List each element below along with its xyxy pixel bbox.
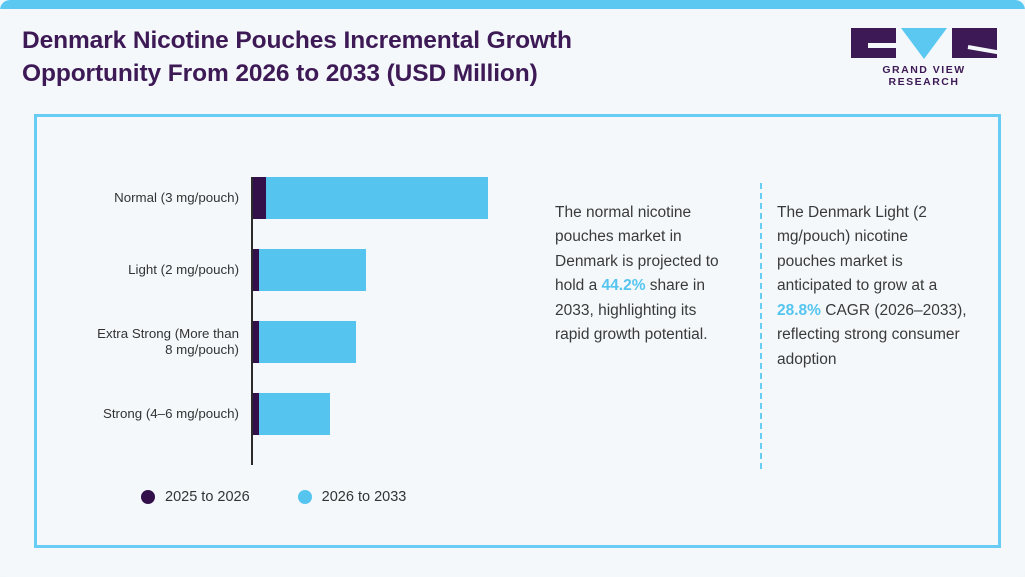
chart-legend: 2025 to 2026 2026 to 2033 (141, 489, 406, 505)
legend-item-2025-2026: 2025 to 2026 (141, 489, 250, 505)
table-row: Strong (4–6 mg/pouch) (37, 393, 537, 435)
logo-r-icon (952, 28, 997, 58)
bar-segment-2026-2033 (266, 177, 488, 219)
legend-item-2026-2033: 2026 to 2033 (298, 489, 407, 505)
incremental-growth-bar-chart: Normal (3 mg/pouch) Light (2 mg/pouch) (37, 117, 537, 551)
bar-stack (253, 249, 366, 291)
bar-category-label: Light (2 mg/pouch) (54, 262, 239, 278)
legend-item-label: 2025 to 2026 (165, 489, 250, 505)
bar-category-label-line-1: Normal (3 mg/pouch) (114, 190, 239, 205)
callout-1-highlight: 44.2% (602, 277, 646, 294)
bar-stack (253, 393, 330, 435)
top-accent-band (0, 0, 1025, 9)
callouts-panel: The normal nicotine pouches market in De… (549, 117, 1004, 551)
logo-g-icon (851, 28, 896, 58)
callout-normal-share: The normal nicotine pouches market in De… (555, 201, 727, 348)
page-title: Denmark Nicotine Pouches Incremental Gro… (22, 25, 722, 91)
bar-segment-2026-2033 (259, 321, 356, 363)
infographic-page: Denmark Nicotine Pouches Incremental Gro… (0, 0, 1025, 577)
bar-category-label-line-1: Extra Strong (More than (97, 326, 239, 341)
bar-stack (253, 177, 488, 219)
table-row: Extra Strong (More than 8 mg/pouch) (37, 321, 537, 363)
logo-v-icon (901, 28, 947, 59)
callout-light-cagr: The Denmark Light (2 mg/pouch) nicotine … (777, 201, 967, 372)
legend-item-label: 2026 to 2033 (322, 489, 407, 505)
brand-logo: GRAND VIEW RESEARCH (849, 28, 999, 88)
bar-segment-2025-2026 (253, 177, 266, 219)
bar-category-label-line-2: 8 mg/pouch) (165, 342, 239, 357)
legend-dot-icon (141, 490, 155, 504)
bar-category-label: Extra Strong (More than 8 mg/pouch) (54, 326, 239, 358)
page-title-line-1: Denmark Nicotine Pouches Incremental Gro… (22, 25, 722, 58)
page-title-line-2: Opportunity From 2026 to 2033 (USD Milli… (22, 58, 722, 91)
logo-wordmark: GRAND VIEW RESEARCH (849, 64, 999, 88)
bar-category-label-line-1: Strong (4–6 mg/pouch) (103, 406, 239, 421)
bar-category-label-line-1: Light (2 mg/pouch) (128, 262, 239, 277)
bar-segment-2026-2033 (259, 249, 366, 291)
legend-dot-icon (298, 490, 312, 504)
bar-segment-2026-2033 (259, 393, 330, 435)
callout-2-highlight: 28.8% (777, 302, 821, 319)
table-row: Normal (3 mg/pouch) (37, 177, 537, 219)
bar-category-label: Normal (3 mg/pouch) (54, 190, 239, 206)
callout-divider (760, 183, 762, 469)
bar-stack (253, 321, 356, 363)
bar-category-label: Strong (4–6 mg/pouch) (54, 406, 239, 422)
table-row: Light (2 mg/pouch) (37, 249, 537, 291)
callout-2-text-pre: The Denmark Light (2 mg/pouch) nicotine … (777, 204, 937, 294)
content-card: Normal (3 mg/pouch) Light (2 mg/pouch) (34, 114, 1001, 548)
logo-marks (849, 28, 999, 58)
